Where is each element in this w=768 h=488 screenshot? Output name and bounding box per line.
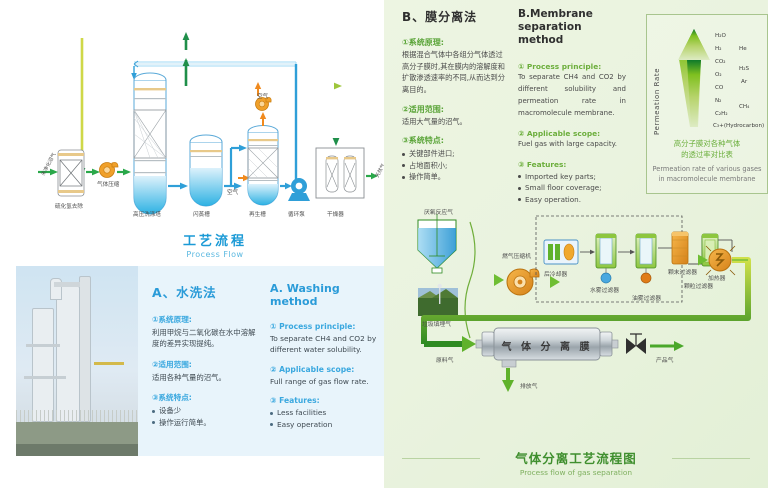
- label-coalescing-filter: 颗末过滤器: [668, 268, 697, 276]
- membrane-cn-label-3: ③系统特点:: [402, 135, 508, 146]
- washing-en-body-1: To separate CH4 and CO2 by different wat…: [270, 333, 390, 356]
- label-air-out: 空气: [257, 92, 269, 100]
- label-gas-compression: 气体压缩: [97, 180, 120, 188]
- permeation-caption-cn-line1: 高分子膜对各种气体: [651, 139, 763, 150]
- permeation-caption-en-line2: in macromolecule membrane: [651, 175, 763, 185]
- washing-cn-item-2: 操作运行简单。: [152, 417, 262, 428]
- washing-cn-body-1: 利用甲烷与二氧化碳在水中溶解度的差异实现提纯。: [152, 327, 262, 350]
- permeation-caption-en: Permeation rate of various gases in macr…: [651, 165, 763, 184]
- gas-separation-diagram: 气 体 分 离 膜 厌氧反应气 垃圾填埋气 燃气压缩机 后冷却器 水雾过滤器: [384, 196, 768, 488]
- label-particle-filter: 颗粒过滤器: [684, 282, 713, 290]
- gas-c3-hydrocarbon: C₃+(Hydrocarbon): [713, 123, 764, 129]
- membrane-cn-label-2: ②适用范围:: [402, 104, 508, 115]
- permeation-arrow-icon: [647, 15, 767, 135]
- gas-ch4: CH₄: [739, 104, 749, 110]
- label-circulation-pump: 循环泵: [288, 210, 305, 218]
- permeation-axis-label: Permeation Rate: [653, 43, 661, 135]
- anaerobic-reactor-icon: [418, 214, 456, 273]
- heater-icon: [706, 246, 735, 275]
- washing-cn-column: A、水洗法 ①系统原理: 利用甲烷与二氧化碳在水中溶解度的差异实现提纯。 ②适用…: [152, 282, 262, 428]
- gas-h2o: H₂O: [715, 33, 726, 39]
- label-feed-gas: 原料气: [436, 356, 454, 364]
- process-flow-diagram: 未净化沼气 硫化氢去除 气体压缩 高压洗涤塔 闪蒸槽 空气 空气 再生槽 循环泵…: [0, 0, 384, 230]
- permeation-caption-cn: 高分子膜对各种气体 的透过率对比表: [651, 139, 763, 160]
- membrane-en-column: B.Membrane separation method ① Process p…: [518, 8, 626, 205]
- gas-compressor-blower: [100, 163, 119, 178]
- label-vent-gas: 排放气: [520, 382, 538, 390]
- membrane-method-section: B、膜分离法 ①系统原理: 根据混合气体中各组分气体透过高分子膜时,其在膜内的溶…: [402, 8, 750, 194]
- circulation-pump: [288, 178, 310, 201]
- after-cooler-icon: [544, 240, 578, 264]
- membrane-en-label-2: ② Applicable scope:: [518, 129, 626, 138]
- dryer-unit: [316, 148, 364, 198]
- membrane-en-item-2: Small floor coverage;: [518, 182, 626, 194]
- washing-heading-en: A. Washing method: [270, 282, 390, 308]
- gas-c2h2: C₂H₂: [715, 111, 728, 117]
- right-half: B、膜分离法 ①系统原理: 根据混合气体中各组分气体透过高分子膜时,其在膜内的溶…: [384, 0, 768, 488]
- washing-en-column: A. Washing method ① Process principle: T…: [270, 282, 390, 430]
- washing-cn-body-2: 适用各种气量的沼气。: [152, 372, 262, 383]
- oil-mist-filter-icon: [636, 234, 656, 283]
- gas-co2: CO₂: [715, 59, 726, 65]
- label-dryer: 干燥器: [327, 210, 344, 218]
- gas-co: CO: [715, 85, 723, 91]
- washing-en-body-2: Full range of gas flow rate.: [270, 376, 390, 387]
- membrane-cn-label-1: ①系统原理:: [402, 37, 508, 48]
- label-h2s-removal: 硫化氢去除: [55, 202, 83, 210]
- membrane-cn-body-2: 适用大气量的沼气。: [402, 116, 508, 128]
- landfill-gas-photo-icon: [418, 284, 458, 316]
- label-regenerator: 再生槽: [249, 210, 266, 218]
- gas-separation-svg: 气 体 分 离 膜 厌氧反应气 垃圾填埋气 燃气压缩机 后冷却器 水雾过滤器: [384, 196, 768, 446]
- high-pressure-absorber: [134, 73, 166, 214]
- membrane-cn-body-1: 根据混合气体中各组分气体透过高分子膜时,其在膜内的溶解度和扩散渗透速率的不同,从…: [402, 49, 508, 96]
- gas-n2: N₂: [715, 98, 721, 104]
- gas-ar: Ar: [741, 79, 747, 85]
- label-oil-mist-filter: 油雾过滤器: [632, 294, 661, 302]
- valve-icon: [626, 334, 646, 354]
- process-flow-title-cn: 工艺流程: [150, 230, 280, 249]
- membrane-cn-item-2: 占地面积小;: [402, 160, 508, 172]
- gas-separation-title-cn: 气体分离工艺流程图: [384, 448, 768, 467]
- membrane-module-text: 气 体 分 离 膜: [501, 340, 593, 353]
- washing-cn-label-1: ①系统原理:: [152, 314, 262, 325]
- coalescing-filter-icon: [672, 232, 688, 264]
- label-product-gas: 产品气: [656, 356, 674, 364]
- gas-o2: O₂: [715, 72, 722, 78]
- washing-en-label-2: ② Applicable scope:: [270, 365, 390, 374]
- water-mist-filter-icon: [596, 234, 616, 283]
- process-flow-title: 工艺流程 Process Flow: [150, 230, 280, 259]
- washing-en-label-1: ① Process principle:: [270, 322, 390, 331]
- process-flow-title-en: Process Flow: [150, 250, 280, 259]
- membrane-en-body-1: To separate CH4 and CO2 by different sol…: [518, 72, 626, 120]
- permeation-caption-cn-line2: 的透过率对比表: [651, 150, 763, 161]
- membrane-cn-item-1: 关键部件进口;: [402, 148, 508, 160]
- washing-method-panel: A、水洗法 ①系统原理: 利用甲烷与二氧化碳在水中溶解度的差异实现提纯。 ②适用…: [16, 266, 384, 456]
- label-absorber: 高压洗涤塔: [133, 210, 161, 218]
- label-air-in: 空气: [227, 188, 239, 196]
- membrane-en-item-1: Imported key parts;: [518, 171, 626, 183]
- gas-separation-title: 气体分离工艺流程图 Process flow of gas separation: [384, 448, 768, 477]
- washing-heading-cn: A、水洗法: [152, 282, 262, 301]
- membrane-cn-column: B、膜分离法 ①系统原理: 根据混合气体中各组分气体透过高分子膜时,其在膜内的溶…: [402, 8, 508, 183]
- regenerator-column: [248, 126, 278, 205]
- permeation-caption-en-line1: Permeation rate of various gases: [651, 165, 763, 175]
- gas-compressor-icon: [507, 269, 539, 295]
- membrane-heading-en: B.Membrane separation method: [518, 8, 626, 47]
- label-anaerobic-gas: 厌氧反应气: [424, 208, 453, 216]
- poster-page: 未净化沼气 硫化氢去除 气体压缩 高压洗涤塔 闪蒸槽 空气 空气 再生槽 循环泵…: [0, 0, 768, 488]
- flash-tank: [190, 135, 222, 206]
- gas-he: He: [739, 46, 747, 52]
- membrane-en-body-2: Fuel gas with large capacity.: [518, 139, 626, 151]
- label-flash-tank: 闪蒸槽: [193, 210, 210, 218]
- washing-cn-item-1: 设备少: [152, 405, 262, 416]
- permeation-rate-box: Permeation Rate H₂O H₂ He CO₂ H₂S O₂ Ar …: [646, 14, 768, 194]
- membrane-en-label-3: ③ Features:: [518, 160, 626, 169]
- washing-en-item-2: Easy operation: [270, 419, 390, 430]
- membrane-heading-cn: B、膜分离法: [402, 8, 508, 25]
- label-heater: 加热器: [708, 274, 726, 282]
- gas-h2s: H₂S: [739, 66, 749, 72]
- gas-h2: H₂: [715, 46, 721, 52]
- label-after-cooler: 后冷却器: [544, 270, 567, 278]
- washing-cn-label-2: ②适用范围:: [152, 359, 262, 370]
- h2s-removal-vessel: [58, 150, 84, 196]
- plant-photo: [16, 266, 138, 456]
- left-half: 未净化沼气 硫化氢去除 气体压缩 高压洗涤塔 闪蒸槽 空气 空气 再生槽 循环泵…: [0, 0, 384, 488]
- membrane-en-label-1: ① Process principle:: [518, 62, 626, 71]
- washing-cn-label-3: ③系统特点:: [152, 392, 262, 403]
- label-water-mist-filter: 水雾过滤器: [590, 286, 619, 294]
- label-landfill-gas: 垃圾填埋气: [422, 320, 451, 328]
- washing-en-item-1: Less facilities: [270, 407, 390, 418]
- process-flow-panel: 未净化沼气 硫化氢去除 气体压缩 高压洗涤塔 闪蒸槽 空气 空气 再生槽 循环泵…: [0, 0, 384, 266]
- gas-separation-title-en: Process flow of gas separation: [384, 468, 768, 477]
- membrane-cn-item-3: 操作简单。: [402, 171, 508, 183]
- label-gas-compressor: 燃气压缩机: [502, 252, 531, 260]
- washing-en-label-3: ③ Features:: [270, 396, 390, 405]
